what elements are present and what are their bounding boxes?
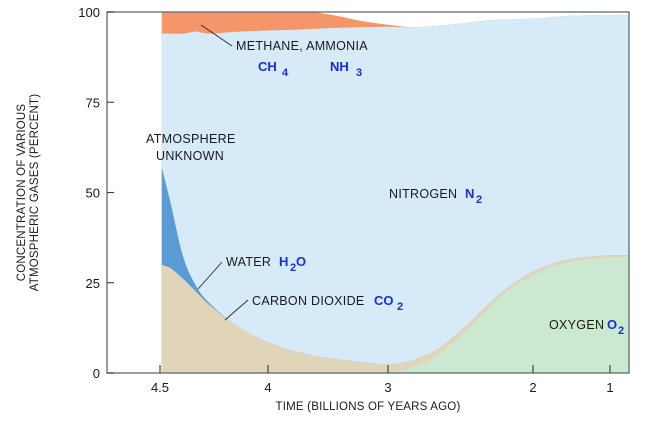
x-axis-title: TIME (BILLIONS OF YEARS AGO) [276, 401, 461, 413]
formula-water-tail: O [296, 254, 306, 269]
formula-co2: CO [374, 293, 394, 308]
formula-methane: CH [258, 59, 277, 74]
y-axis-title-line2: ATMOSPHERIC GASES (PERCENT) [29, 94, 41, 292]
label-oxygen: OXYGEN [549, 318, 604, 332]
x-tick-label-4_5: 4.5 [151, 380, 169, 395]
atmospheric-gases-chart: 100 75 50 25 0 4.5 4 3 2 1 TIME (BILLION… [0, 0, 645, 422]
label-carbon-dioxide: CARBON DIOXIDE [252, 294, 365, 308]
formula-nitrogen-sub: 2 [476, 194, 482, 206]
formula-methane-sub: 4 [282, 67, 289, 79]
y-tick-label-50: 50 [86, 186, 100, 201]
y-tick-label-0: 0 [93, 366, 100, 381]
x-tick-label-2: 2 [529, 380, 536, 395]
x-tick-label-4: 4 [264, 380, 271, 395]
y-tick-label-25: 25 [86, 276, 100, 291]
formula-ammonia: NH [330, 59, 349, 74]
formula-nitrogen: N [465, 186, 474, 201]
x-tick-label-3: 3 [384, 380, 391, 395]
x-tick-label-1: 1 [606, 380, 613, 395]
label-methane-ammonia: METHANE, AMMONIA [236, 39, 368, 53]
y-tick-label-100: 100 [78, 5, 100, 20]
atmosphere-unknown-label-line2: UNKNOWN [156, 149, 224, 163]
atmosphere-unknown-label-line1: ATMOSPHERE [146, 132, 236, 146]
y-tick-label-75: 75 [86, 95, 100, 110]
formula-oxygen-sub: 2 [618, 325, 624, 337]
formula-co2-sub: 2 [397, 301, 403, 313]
formula-water: H [279, 254, 288, 269]
formula-oxygen: O [607, 317, 617, 332]
label-nitrogen: NITROGEN [389, 187, 457, 201]
label-water: WATER [226, 255, 271, 269]
y-axis-title-line1: CONCENTRATION OF VARIOUS [16, 104, 28, 282]
formula-ammonia-sub: 3 [356, 67, 362, 79]
